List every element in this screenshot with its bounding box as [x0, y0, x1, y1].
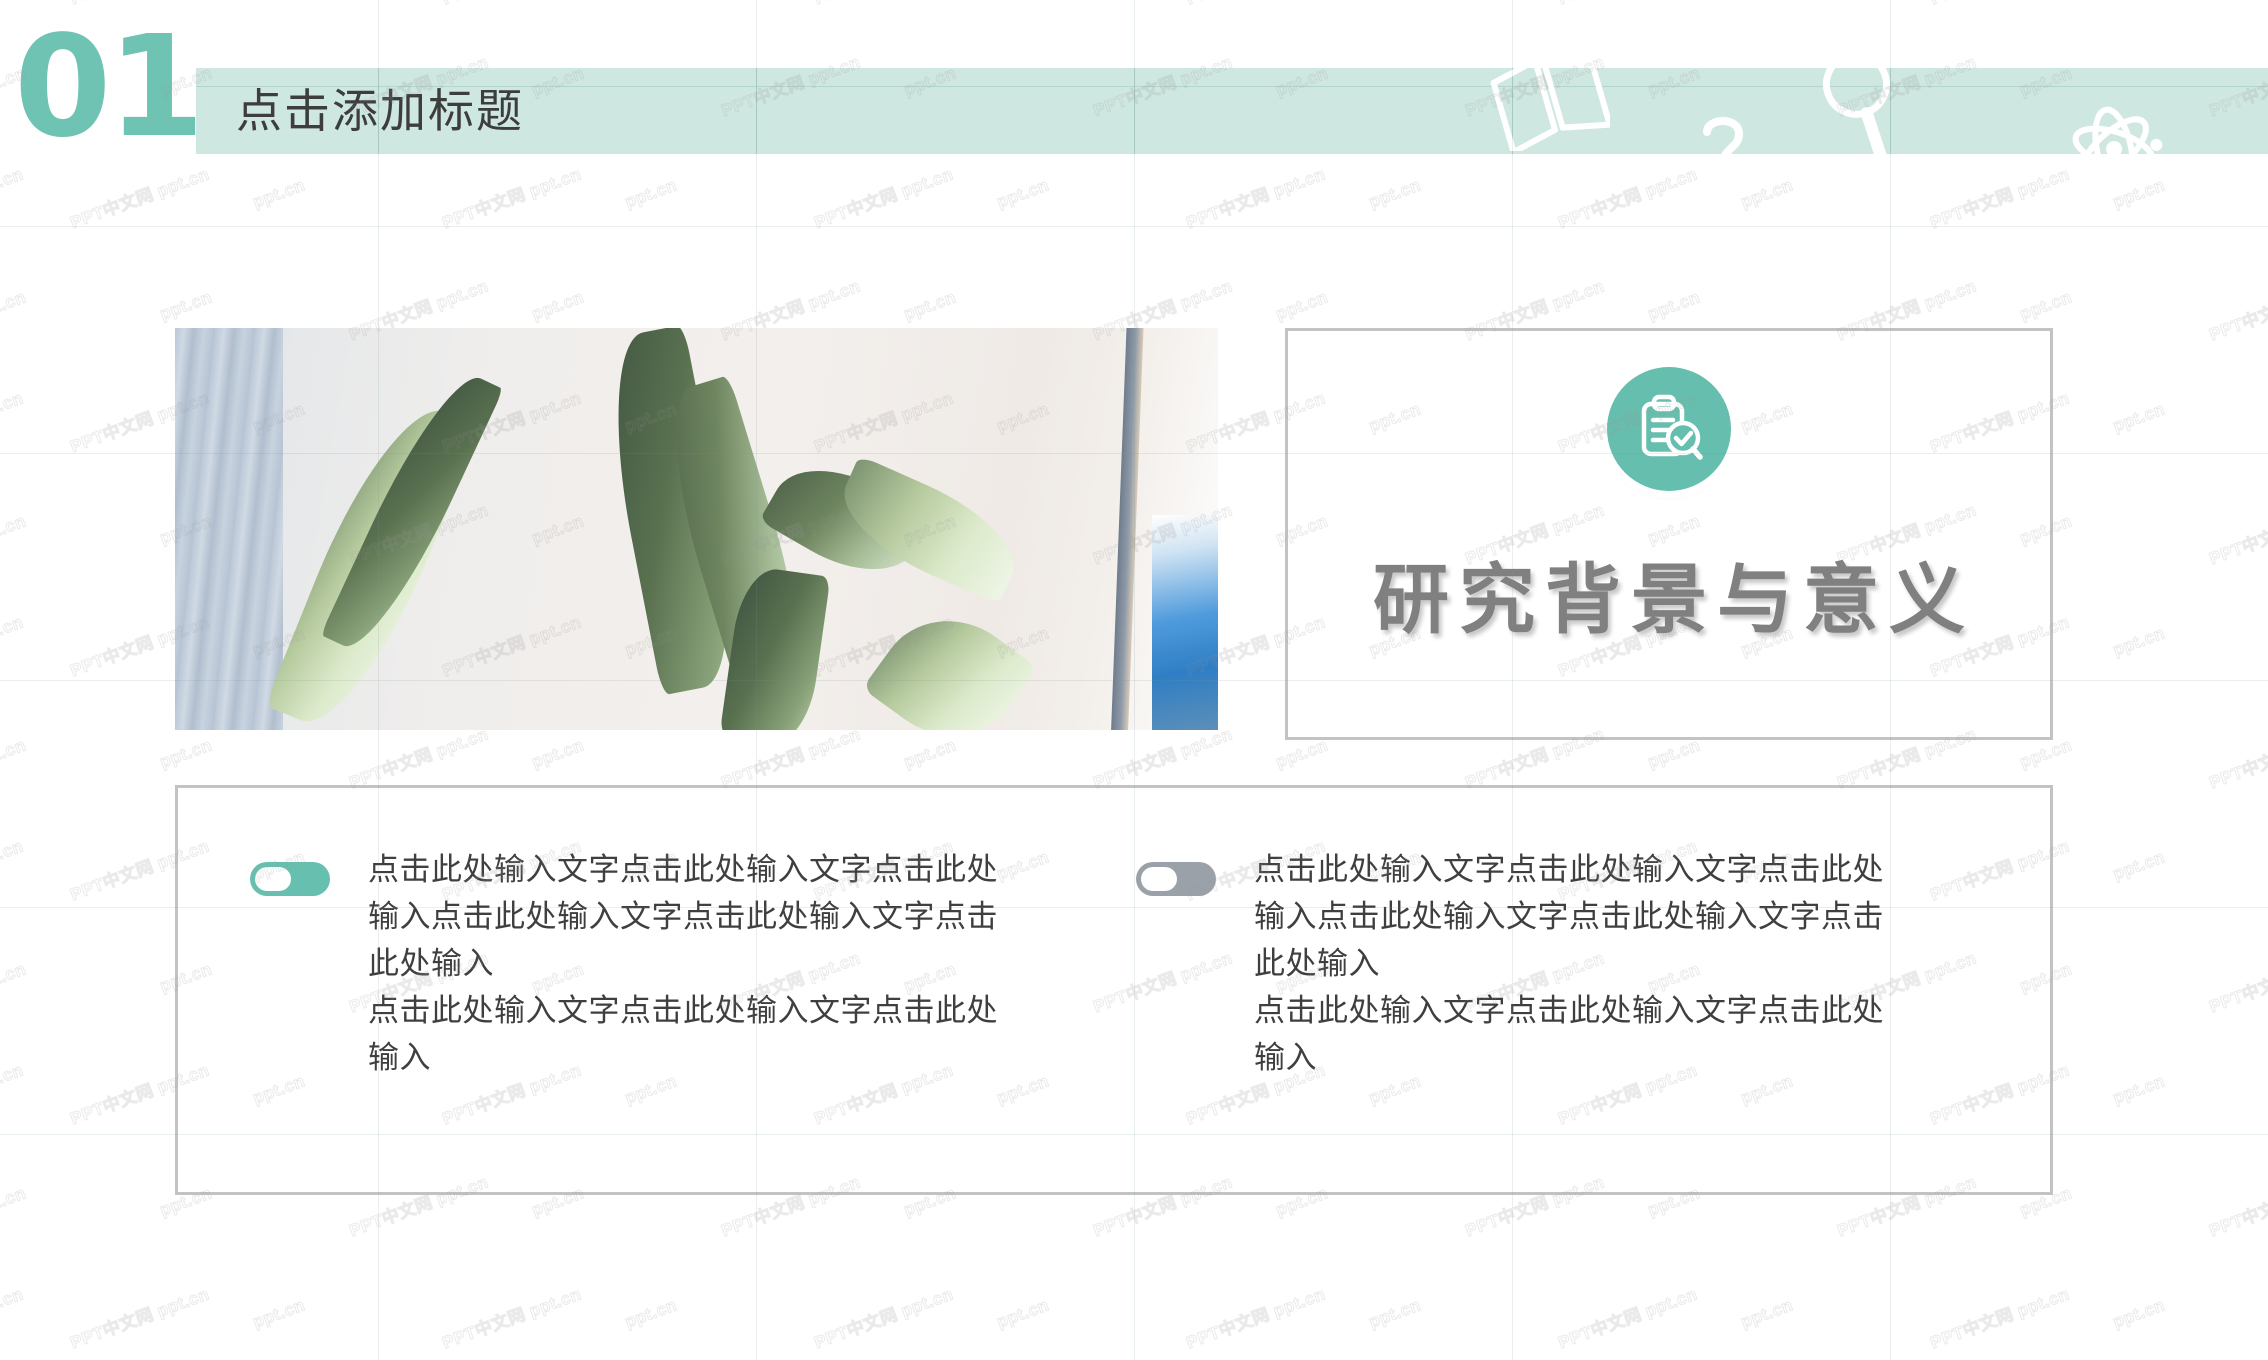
watermark-text: PPT中文网 ppt.cn: [438, 160, 584, 234]
watermark-text: ppt.cn: [901, 735, 959, 772]
watermark-text: ppt.cn: [901, 287, 959, 324]
content-box: 点击此处输入文字点击此处输入文字点击此处输入点击此处输入文字点击此处输入文字点击…: [175, 785, 2053, 1195]
magnifying-glass-icon: [1796, 42, 1926, 175]
watermark-text: PPT中文网 ppt.cn: [1089, 720, 1235, 794]
watermark-text: ppt.cn: [250, 1295, 308, 1332]
watermark-text: PPT中文网 ppt.cn: [438, 0, 584, 9]
watermark-text: PPT中文网 ppt.cn: [2205, 272, 2268, 346]
watermark-text: ppt.cn: [1645, 735, 1703, 772]
watermark-text: PPT中文网 ppt.cn: [810, 0, 956, 9]
clipboard-search-icon: [1607, 367, 1731, 491]
watermark-text: PPT中文网 ppt.cn: [1926, 0, 2072, 9]
content-column-right: 点击此处输入文字点击此处输入文字点击此处输入点击此处输入文字点击此处输入文字点击…: [1114, 788, 2050, 1192]
watermark-text: ppt.cn: [0, 287, 29, 324]
watermark-text: PPT中文网 ppt.cn: [1182, 160, 1328, 234]
watermark-text: ppt.cn: [0, 1183, 29, 1220]
watermark-text: ppt.cn: [2110, 847, 2168, 884]
watermark-text: ppt.cn: [1366, 1295, 1424, 1332]
watermark-text: PPT中文网 ppt.cn: [2205, 1168, 2268, 1242]
watermark-text: ppt.cn: [622, 175, 680, 212]
watermark-text: PPT中文网 ppt.cn: [2205, 944, 2268, 1018]
toggle-pill-active[interactable]: [250, 862, 330, 896]
watermark-text: ppt.cn: [2110, 1071, 2168, 1108]
page-title: 点击添加标题: [236, 78, 524, 144]
watermark-text: PPT中文网 ppt.cn: [1182, 0, 1328, 9]
watermark-text: PPT中文网 ppt.cn: [0, 384, 26, 458]
watermark-text: PPT中文网 ppt.cn: [0, 608, 26, 682]
photo-curtain: [175, 328, 283, 730]
watermark-text: ppt.cn: [1645, 287, 1703, 324]
watermark-text: PPT中文网 ppt.cn: [1926, 1280, 2072, 1354]
watermark-text: ppt.cn: [2110, 1295, 2168, 1332]
watermark-text: PPT中文网 ppt.cn: [1554, 160, 1700, 234]
watermark-text: ppt.cn: [250, 175, 308, 212]
open-book-icon: [1490, 46, 1610, 156]
paragraph: 点击此处输入文字点击此处输入文字点击此处输入: [1254, 987, 1904, 1081]
watermark-text: PPT中文网 ppt.cn: [345, 720, 491, 794]
watermark-text: PPT中文网 ppt.cn: [717, 720, 863, 794]
section-number: 01: [14, 26, 201, 150]
paragraph: 点击此处输入文字点击此处输入文字点击此处输入: [368, 987, 1008, 1081]
watermark-text: ppt.cn: [622, 1295, 680, 1332]
research-background-panel: 研究背景与意义: [1285, 328, 2053, 740]
watermark-text: PPT中文网 ppt.cn: [66, 1280, 212, 1354]
watermark-text: PPT中文网 ppt.cn: [1554, 0, 1700, 9]
atom-icon: [2054, 94, 2174, 209]
watermark-text: PPT中文网 ppt.cn: [0, 1280, 26, 1354]
watermark-text: ppt.cn: [529, 735, 587, 772]
watermark-text: ppt.cn: [157, 735, 215, 772]
watermark-text: ppt.cn: [1366, 175, 1424, 212]
watermark-text: PPT中文网 ppt.cn: [1926, 160, 2072, 234]
watermark-text: PPT中文网 ppt.cn: [0, 1056, 26, 1130]
watermark-text: PPT中文网 ppt.cn: [1182, 1280, 1328, 1354]
content-text-right: 点击此处输入文字点击此处输入文字点击此处输入点击此处输入文字点击此处输入文字点击…: [1254, 846, 1904, 1081]
toggle-pill-inactive[interactable]: [1136, 862, 1216, 896]
watermark-text: ppt.cn: [2110, 623, 2168, 660]
watermark-text: ppt.cn: [2017, 735, 2075, 772]
watermark-text: ppt.cn: [1738, 1295, 1796, 1332]
paragraph: 点击此处输入文字点击此处输入文字点击此处输入点击此处输入文字点击此处输入文字点击…: [368, 846, 1008, 987]
watermark-text: ppt.cn: [0, 959, 29, 996]
question-mark-icon: [1693, 108, 1753, 199]
watermark-text: ppt.cn: [0, 511, 29, 548]
watermark-text: PPT中文网 ppt.cn: [2205, 720, 2268, 794]
panel-heading: 研究背景与意义: [1288, 551, 2050, 651]
watermark-text: PPT中文网 ppt.cn: [2205, 496, 2268, 570]
watermark-text: ppt.cn: [994, 1295, 1052, 1332]
watermark-text: ppt.cn: [994, 175, 1052, 212]
watermark-text: ppt.cn: [157, 287, 215, 324]
content-column-left: 点击此处输入文字点击此处输入文字点击此处输入点击此处输入文字点击此处输入文字点击…: [178, 788, 1114, 1192]
watermark-text: ppt.cn: [529, 287, 587, 324]
watermark-text: ppt.cn: [2110, 399, 2168, 436]
watermark-text: PPT中文网 ppt.cn: [810, 1280, 956, 1354]
paragraph: 点击此处输入文字点击此处输入文字点击此处输入点击此处输入文字点击此处输入文字点击…: [1254, 846, 1904, 987]
watermark-text: ppt.cn: [2017, 287, 2075, 324]
watermark-text: ppt.cn: [0, 735, 29, 772]
watermark-text: ppt.cn: [1273, 735, 1331, 772]
watermark-text: PPT中文网 ppt.cn: [66, 160, 212, 234]
watermark-text: ppt.cn: [1273, 287, 1331, 324]
watermark-text: PPT中文网 ppt.cn: [1554, 1280, 1700, 1354]
photo-sky: [1152, 515, 1218, 730]
slide-canvas: 01 点击添加标题 研究背景与意义: [0, 0, 2268, 1360]
slide-photo: [175, 328, 1218, 730]
watermark-text: PPT中文网 ppt.cn: [810, 160, 956, 234]
content-text-left: 点击此处输入文字点击此处输入文字点击此处输入点击此处输入文字点击此处输入文字点击…: [368, 846, 1008, 1081]
watermark-text: PPT中文网 ppt.cn: [0, 832, 26, 906]
watermark-text: PPT中文网 ppt.cn: [438, 1280, 584, 1354]
watermark-text: PPT中文网 ppt.cn: [0, 160, 26, 234]
